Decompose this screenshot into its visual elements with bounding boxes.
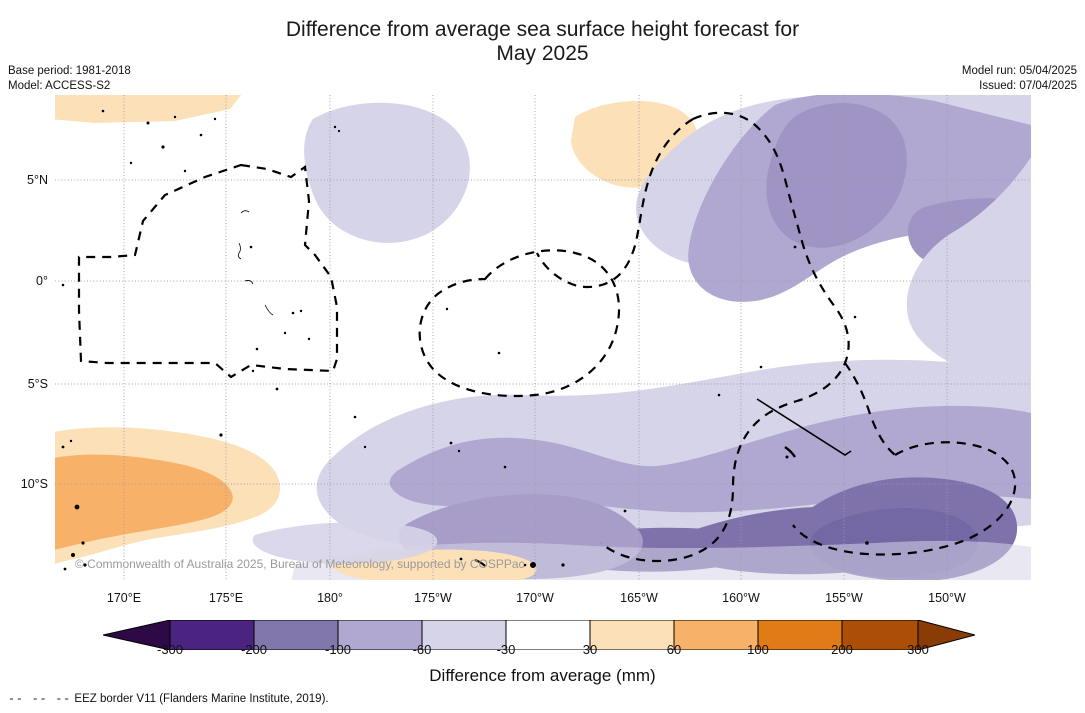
cb-tick--200: -200 — [219, 642, 289, 657]
map-plot-area[interactable] — [55, 95, 1031, 580]
cb-tick--100: -100 — [303, 642, 373, 657]
lon-tick-160w: 160°W — [701, 591, 781, 605]
colorbar-title: Difference from average (mm) — [0, 666, 1085, 686]
lon-tick-170e: 170°E — [84, 591, 164, 605]
model-run-text: Model run: 05/04/2025 — [962, 64, 1077, 79]
title-line-2: May 2025 — [0, 42, 1085, 66]
title-line-1: Difference from average sea surface heig… — [286, 18, 799, 41]
lon-tick-180: 180° — [290, 591, 370, 605]
lon-tick-175w: 175°W — [393, 591, 473, 605]
model-text: Model: ACCESS-S2 — [8, 79, 131, 94]
cb-tick--300: -300 — [135, 642, 205, 657]
cb-tick--60: -60 — [387, 642, 457, 657]
lon-tick-155w: 155°W — [804, 591, 884, 605]
lon-tick-165w: 165°W — [599, 591, 679, 605]
cb-tick-100: 100 — [723, 642, 793, 657]
cb-tick-30: 30 — [555, 642, 625, 657]
lat-tick-5s: 5°S — [4, 377, 48, 391]
eez-footnote: -- -- -- EEZ border V11 (Flanders Marine… — [8, 693, 329, 706]
base-period-text: Base period: 1981-2018 — [8, 64, 131, 79]
cb-tick-300: 300 — [883, 642, 953, 657]
eez-legend-text: EEZ border V11 (Flanders Marine Institut… — [74, 693, 328, 705]
cb-tick-200: 200 — [807, 642, 877, 657]
lon-tick-175e: 175°E — [186, 591, 266, 605]
lat-tick-0: 0° — [4, 274, 48, 288]
cb-tick-60: 60 — [639, 642, 709, 657]
figure-root: Difference from average sea surface heig… — [0, 0, 1085, 713]
page-title: Difference from average sea surface heig… — [0, 18, 1085, 66]
issued-text: Issued: 07/04/2025 — [962, 79, 1077, 94]
metadata-right: Model run: 05/04/2025 Issued: 07/04/2025 — [962, 64, 1077, 94]
lat-tick-5n: 5°N — [4, 173, 48, 187]
lat-tick-10s: 10°S — [4, 477, 48, 491]
cb-tick--30: -30 — [471, 642, 541, 657]
eez-legend-dashes: -- -- -- — [8, 693, 71, 706]
lon-tick-170w: 170°W — [495, 591, 575, 605]
lon-tick-150w: 150°W — [907, 591, 987, 605]
metadata-left: Base period: 1981-2018 Model: ACCESS-S2 — [8, 64, 131, 94]
